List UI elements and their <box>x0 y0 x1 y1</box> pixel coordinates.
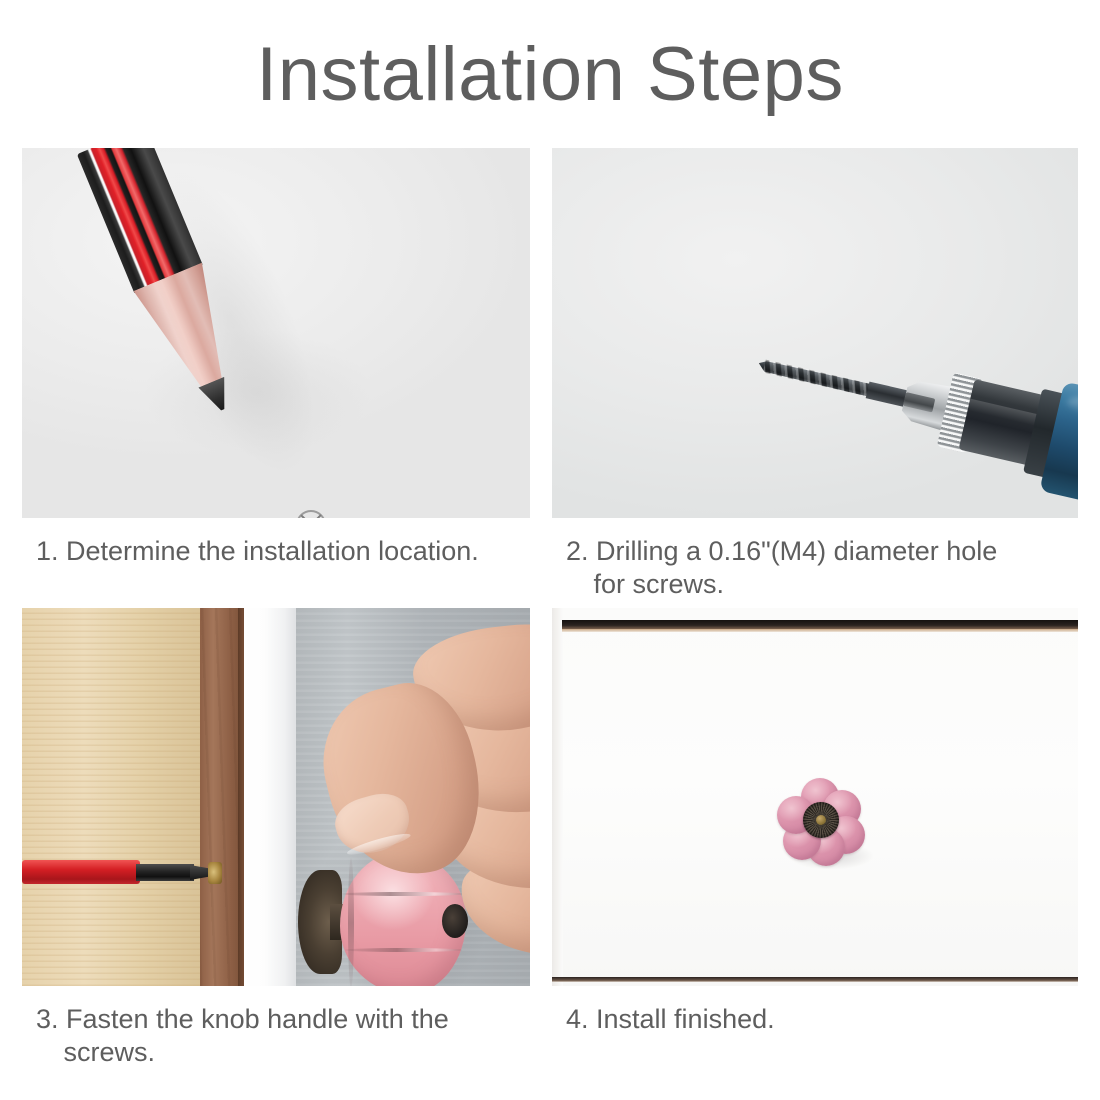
step-4: 4. Install finished. <box>552 608 1078 1036</box>
step-2-caption: 2. Drilling a 0.16"(M4) diameter hole fo… <box>552 518 1078 601</box>
pencil-marking-photo <box>22 148 530 518</box>
wood-panel <box>22 608 200 986</box>
step-3-caption: 3. Fasten the knob handle with the screw… <box>22 986 530 1069</box>
drill-bit-flutes <box>763 360 875 398</box>
screwdriver-handle <box>22 860 140 884</box>
drawer-bottom-gap <box>552 977 1078 982</box>
step-4-caption: 4. Install finished. <box>552 986 1078 1036</box>
step-1-caption: 1. Determine the installation location. <box>22 518 530 568</box>
drilling-hole-photo <box>552 148 1078 518</box>
knob-center-cap <box>803 802 839 838</box>
step-2: 2. Drilling a 0.16"(M4) diameter hole fo… <box>552 148 1078 601</box>
finished-install-photo <box>552 608 1078 986</box>
drawer-top-trim <box>562 629 1078 632</box>
drawer-top-gap <box>562 620 1078 629</box>
screwdriver-shaft <box>136 864 194 881</box>
door-white-edge <box>244 608 296 986</box>
hand-icon <box>322 608 530 986</box>
screw <box>208 862 222 884</box>
installation-steps-infographic: Installation Steps 1. Determine the inst… <box>0 0 1100 1100</box>
step-3: 3. Fasten the knob handle with the screw… <box>22 608 530 1069</box>
fastening-knob-photo <box>22 608 530 986</box>
step-1: 1. Determine the installation location. <box>22 148 530 568</box>
drawer-left-edge <box>552 608 563 986</box>
cross-mark-icon <box>296 510 326 518</box>
pink-knob-front-view <box>777 778 863 862</box>
page-title: Installation Steps <box>0 34 1100 116</box>
